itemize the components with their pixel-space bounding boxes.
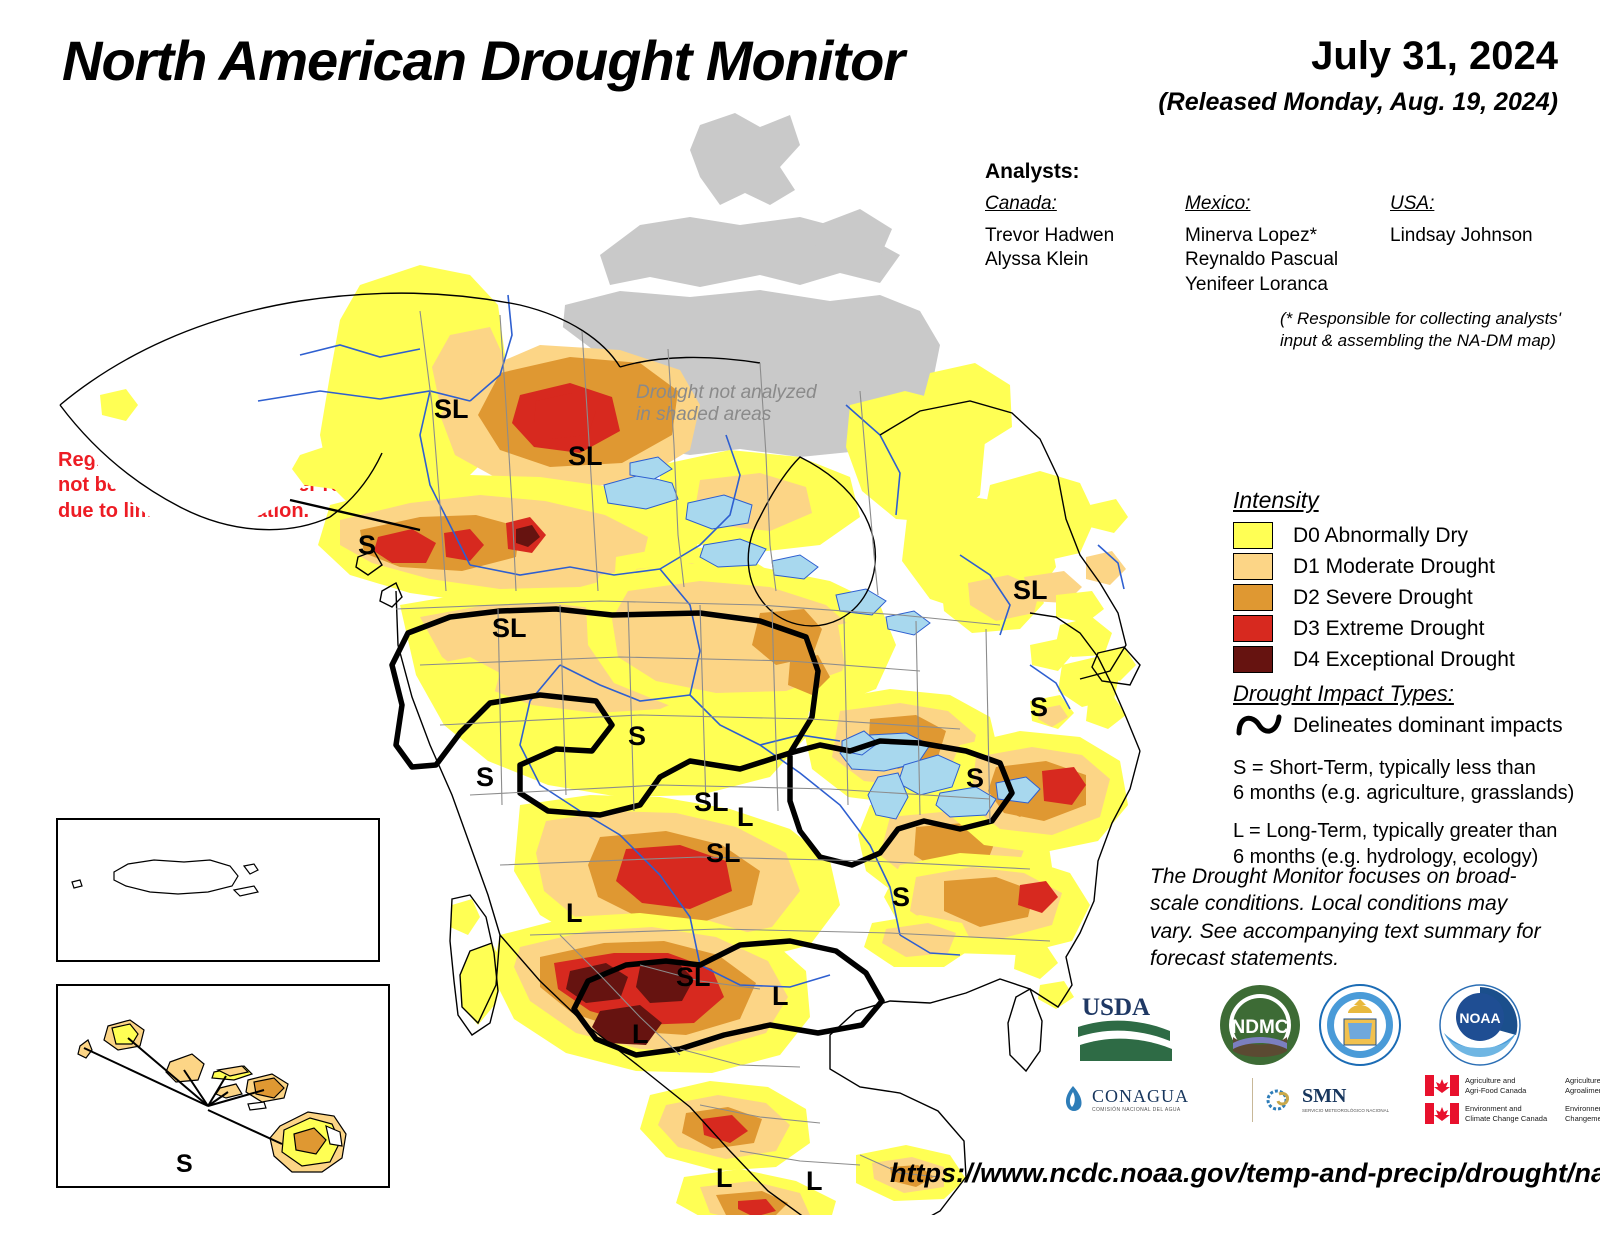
impact-type-label: S: [1030, 692, 1048, 723]
map-date: July 31, 2024: [1311, 34, 1558, 79]
smn-logo: SMN SERVICIO METEOROLÓGICO NACIONAL: [1265, 1084, 1425, 1116]
release-date: (Released Monday, Aug. 19, 2024): [1158, 88, 1558, 117]
conagua-sublabel: COMISIÓN NACIONAL DEL AGUA: [1092, 1107, 1189, 1113]
impact-types-legend: Drought Impact Types: Delineates dominan…: [1233, 681, 1600, 870]
impact-type-label: L: [632, 1019, 649, 1050]
noaa-logo: NOAA: [1440, 985, 1520, 1065]
impact-type-label: SL: [568, 441, 603, 472]
legend-row-d2: D2 Severe Drought: [1233, 582, 1593, 613]
analysts-footnote: (* Responsible for collecting analysts' …: [1280, 308, 1590, 352]
impact-type-label: SL: [676, 962, 711, 993]
svg-text:NOAA: NOAA: [1459, 1010, 1500, 1026]
drought-monitor-blurb: The Drought Monitor focuses on broad-sca…: [1150, 863, 1550, 972]
impact-type-label: L: [737, 802, 754, 833]
impact-type-label: SL: [492, 613, 527, 644]
canada-flag-icon: [1425, 1075, 1459, 1096]
svg-text:USDA: USDA: [1082, 994, 1150, 1021]
analysts-column-usa: USA: Lindsay Johnson: [1390, 193, 1533, 297]
legend-row-d4: D4 Exceptional Drought: [1233, 644, 1593, 675]
impact-types-title: Drought Impact Types:: [1233, 681, 1600, 707]
impact-type-label: L: [806, 1166, 823, 1197]
impact-type-label: SL: [694, 787, 729, 818]
legend-row-d3: D3 Extreme Drought: [1233, 613, 1593, 644]
source-url[interactable]: https://www.ncdc.noaa.gov/temp-and-preci…: [890, 1158, 1600, 1189]
svg-text:NDMC: NDMC: [1232, 1017, 1289, 1038]
canada-agencies: Agriculture and Agri-Food Canada Agricul…: [1425, 1075, 1600, 1124]
agency-en-environment: Environment and Climate Change Canada: [1465, 1104, 1565, 1123]
impact-type-label: S: [358, 530, 376, 561]
squiggle-icon: [1233, 709, 1285, 743]
swatch-d0: [1233, 522, 1273, 549]
analyst-country-usa: USA:: [1390, 193, 1533, 215]
agency-en-agriculture: Agriculture and Agri-Food Canada: [1465, 1076, 1565, 1095]
intensity-legend: Intensity D0 Abnormally Dry D1 Moderate …: [1233, 487, 1593, 675]
impact-type-label: SL: [1013, 575, 1048, 606]
legend-label-d0: D0 Abnormally Dry: [1293, 524, 1468, 548]
usda-logo: USDA: [1078, 994, 1172, 1061]
conagua-icon: [1060, 1084, 1086, 1116]
analyst-name: Yenifeer Loranca: [1185, 273, 1390, 297]
analysts-column-mexico: Mexico: Minerva Lopez* Reynaldo Pascual …: [1185, 193, 1390, 297]
impact-type-label: L: [566, 898, 583, 929]
legend-label-d2: D2 Severe Drought: [1293, 586, 1473, 610]
ndmc-logo: NDMC: [1220, 985, 1300, 1065]
legend-title: Intensity: [1233, 487, 1593, 514]
legend-label-d4: D4 Exceptional Drought: [1293, 648, 1515, 672]
analyst-name: Lindsay Johnson: [1390, 224, 1533, 248]
hawaii-islands: [78, 1020, 346, 1172]
hawaii-impact-label: S: [176, 1150, 193, 1178]
agency-fr-agriculture: Agriculture et Agroalimentaire Canada: [1565, 1076, 1600, 1095]
impact-type-label: S: [476, 762, 494, 793]
impact-type-label: SL: [434, 394, 469, 425]
delineates-label: Delineates dominant impacts: [1293, 714, 1563, 738]
swatch-d3: [1233, 615, 1273, 642]
impact-type-label: S: [966, 763, 984, 794]
impact-type-label: S: [628, 721, 646, 752]
impact-type-label: SL: [706, 838, 741, 869]
swatch-d4: [1233, 646, 1273, 673]
legend-label-d3: D3 Extreme Drought: [1293, 617, 1484, 641]
inset-puerto-rico[interactable]: [56, 818, 380, 962]
page-title: North American Drought Monitor: [62, 28, 904, 93]
analyst-name: Reynaldo Pascual: [1185, 248, 1390, 272]
smn-label: SMN: [1302, 1085, 1389, 1108]
legend-row-d0: D0 Abnormally Dry: [1233, 520, 1593, 551]
legend-label-d1: D1 Moderate Drought: [1293, 555, 1495, 579]
swatch-d1: [1233, 553, 1273, 580]
swatch-d2: [1233, 584, 1273, 611]
logo-divider: [1252, 1078, 1253, 1122]
canada-flag-icon: [1425, 1103, 1459, 1124]
impact-type-label: L: [772, 981, 789, 1012]
smn-icon: [1265, 1084, 1297, 1116]
short-term-description: S = Short-Term, typically less than 6 mo…: [1233, 756, 1600, 806]
commerce-seal-logo: [1320, 985, 1400, 1065]
conagua-logo: CONAGUA COMISIÓN NACIONAL DEL AGUA: [1060, 1084, 1240, 1116]
impact-type-label: L: [716, 1163, 733, 1194]
smn-sublabel: SERVICIO METEOROLÓGICO NACIONAL: [1302, 1108, 1389, 1114]
logos-block: USDA NDMC NOAA: [1060, 975, 1600, 1155]
analyst-country-mexico: Mexico:: [1185, 193, 1390, 215]
analyst-name: Minerva Lopez*: [1185, 224, 1390, 248]
impact-type-label: S: [892, 882, 910, 913]
inset-hawaii[interactable]: S: [56, 984, 390, 1188]
agency-fr-environment: Environnement et Changement climatique C…: [1565, 1104, 1600, 1123]
conagua-label: CONAGUA: [1092, 1086, 1189, 1107]
puerto-rico-outline: [72, 860, 258, 896]
delineates-row: Delineates dominant impacts: [1233, 709, 1600, 743]
legend-row-d1: D1 Moderate Drought: [1233, 551, 1593, 582]
